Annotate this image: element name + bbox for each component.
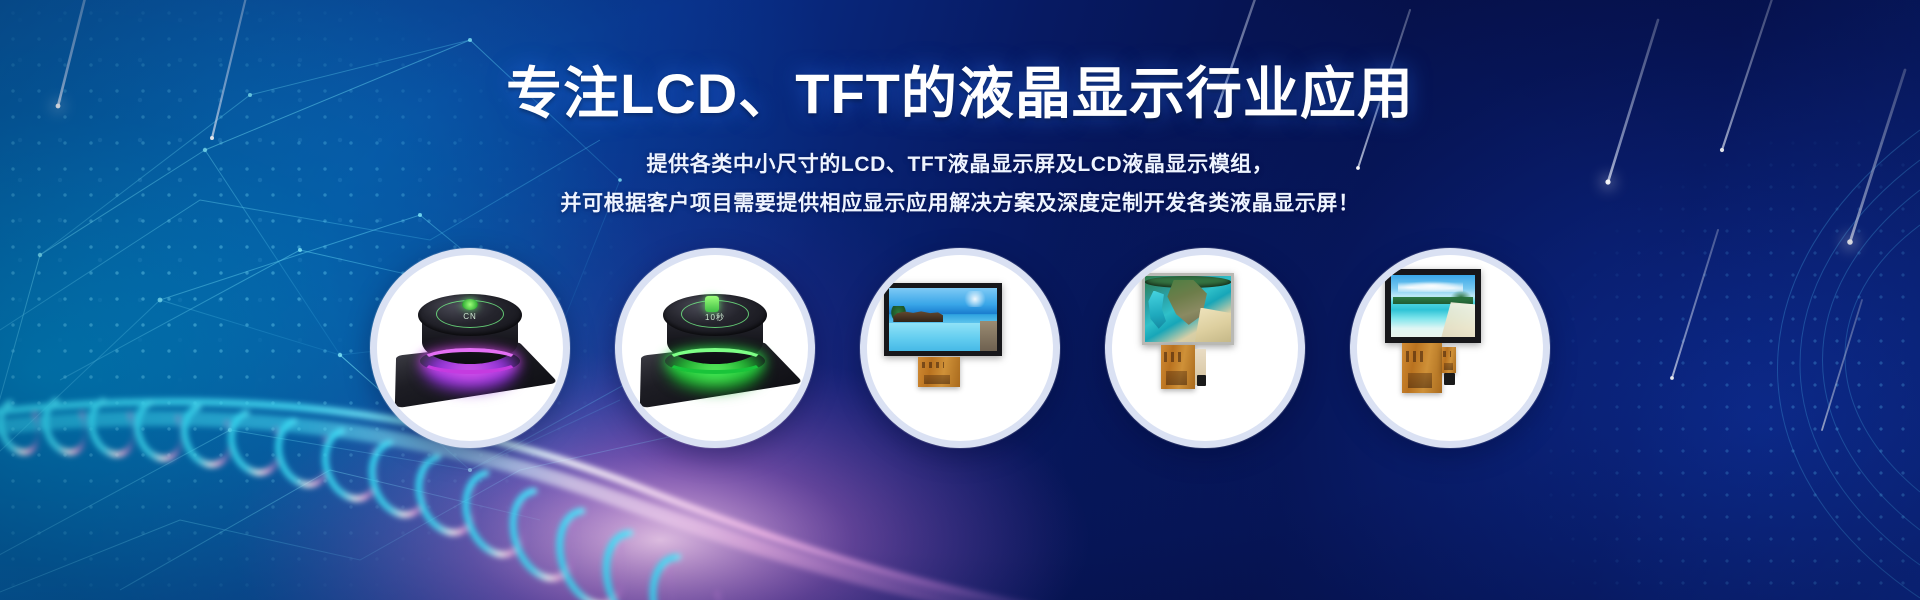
banner-copy: 专注LCD、TFT的液晶显示行业应用 提供各类中小尺寸的LCD、TFT液晶显示屏…: [0, 64, 1920, 224]
product-circle-round-smart-device-green-led[interactable]: 10秒: [615, 248, 815, 448]
hero-banner: 专注LCD、TFT的液晶显示行业应用 提供各类中小尺寸的LCD、TFT液晶显示屏…: [0, 0, 1920, 600]
product-circle-widescreen-tft-lcd-module[interactable]: [860, 248, 1060, 448]
product-image-capacitive-tft-lcd-module: [1357, 255, 1509, 407]
product-image-widescreen-tft-lcd-module: [867, 255, 1019, 407]
product-circle-standard-tft-lcd-module[interactable]: [1105, 248, 1305, 448]
banner-subtitle-line-1: 提供各类中小尺寸的LCD、TFT液晶显示屏及LCD液晶显示模组，: [0, 146, 1920, 185]
product-image-round-smart-device-green-led: 10秒: [639, 272, 791, 424]
banner-subtitle-line-2: 并可根据客户项目需要提供相应显示应用解决方案及深度定制开发各类液晶显示屏！: [0, 185, 1920, 224]
product-showcase-list: CN 10秒: [0, 248, 1920, 448]
product-image-standard-tft-lcd-module: [1112, 255, 1264, 407]
product-circle-round-smart-device-purple-led[interactable]: CN: [370, 248, 570, 448]
banner-subtitle: 提供各类中小尺寸的LCD、TFT液晶显示屏及LCD液晶显示模组， 并可根据客户项…: [0, 146, 1920, 224]
banner-title: 专注LCD、TFT的液晶显示行业应用: [0, 64, 1920, 124]
product-image-round-smart-device-purple-led: CN: [394, 272, 546, 424]
product-circle-capacitive-tft-lcd-module[interactable]: [1350, 248, 1550, 448]
